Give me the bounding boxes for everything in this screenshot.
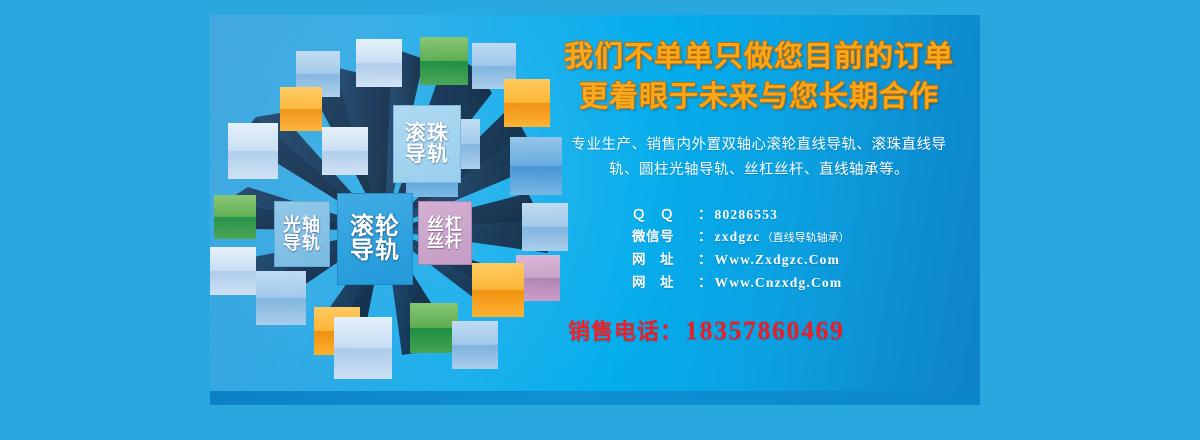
contact-label-website-2: 网 址	[632, 272, 698, 295]
banner-bottom-strip	[210, 391, 980, 405]
card-gunzhu-line2: 导轨	[405, 144, 449, 165]
contact-label-website-1: 网 址	[632, 249, 698, 272]
card-guangzhou-line2: 导轨	[283, 234, 321, 252]
card-gunzhu-daogui[interactable]: 滚珠 导轨	[393, 105, 461, 183]
contact-row-qq: Ｑ Ｑ ： 80286553	[632, 204, 968, 227]
card-guangzhou-line1: 光轴	[283, 216, 321, 234]
card-sigang-sigan[interactable]: 丝杠 丝杆	[418, 201, 472, 265]
page-root: 滚珠 导轨 光轴 导轨 滚轮 导轨 丝杠 丝杆 我们不单单只做您目前的订单 更着…	[0, 0, 1200, 440]
card-sigang-line2: 丝杆	[427, 233, 463, 250]
card-gunlun-line1: 滚轮	[350, 215, 400, 239]
contact-block: Ｑ Ｑ ： 80286553 微信号 ： zxdgzc （直线导轨轴承） 网 址…	[550, 204, 968, 295]
contact-row-website-2: 网 址 ： Www.Cnzxdg.Com	[632, 272, 968, 295]
sales-phone-number[interactable]: 18357860469	[685, 316, 845, 345]
headline-line-1: 我们不单单只做您目前的订单	[550, 37, 968, 77]
contact-note-wechat: （直线导轨轴承）	[762, 229, 850, 247]
contact-label-qq: Ｑ Ｑ	[632, 204, 698, 227]
card-sigang-line1: 丝杠	[427, 216, 463, 233]
contact-row-website-1: 网 址 ： Www.Zxdgzc.Com	[632, 249, 968, 272]
contact-row-wechat: 微信号 ： zxdgzc （直线导轨轴承）	[632, 226, 968, 249]
cube-burst-artwork: 滚珠 导轨 光轴 导轨 滚轮 导轨 丝杠 丝杆	[210, 15, 570, 405]
promo-banner: 滚珠 导轨 光轴 导轨 滚轮 导轨 丝杠 丝杆 我们不单单只做您目前的订单 更着…	[210, 15, 980, 405]
sales-phone-label: 销售电话：	[568, 319, 683, 344]
contact-value-qq[interactable]: 80286553	[715, 204, 779, 227]
contact-label-wechat: 微信号	[632, 226, 698, 249]
headline: 我们不单单只做您目前的订单 更着眼于未来与您长期合作	[550, 37, 968, 117]
card-gunlun-line2: 导轨	[350, 239, 400, 263]
contact-separator-website-1: ：	[698, 249, 712, 272]
contact-value-website-2[interactable]: Www.Cnzxdg.Com	[715, 272, 843, 295]
card-guangzhou-daogui[interactable]: 光轴 导轨	[274, 201, 330, 267]
banner-content: 我们不单单只做您目前的订单 更着眼于未来与您长期合作 专业生产、销售内外置双轴心…	[550, 37, 968, 377]
contact-separator-wechat: ：	[698, 226, 712, 249]
contact-separator-qq: ：	[698, 204, 712, 227]
card-gunzhu-line1: 滚珠	[405, 123, 449, 144]
card-gunlun-daogui[interactable]: 滚轮 导轨	[337, 193, 413, 285]
contact-value-wechat[interactable]: zxdgzc	[715, 226, 761, 249]
sales-phone[interactable]: 销售电话：18357860469	[550, 314, 968, 346]
contact-separator-website-2: ：	[698, 272, 712, 295]
description-text: 专业生产、销售内外置双轴心滚轮直线导轨、滚珠直线导轨、圆柱光轴导轨、丝杠丝杆、直…	[550, 133, 968, 184]
headline-line-2: 更着眼于未来与您长期合作	[550, 77, 968, 117]
contact-value-website-1[interactable]: Www.Zxdgzc.Com	[715, 249, 841, 272]
